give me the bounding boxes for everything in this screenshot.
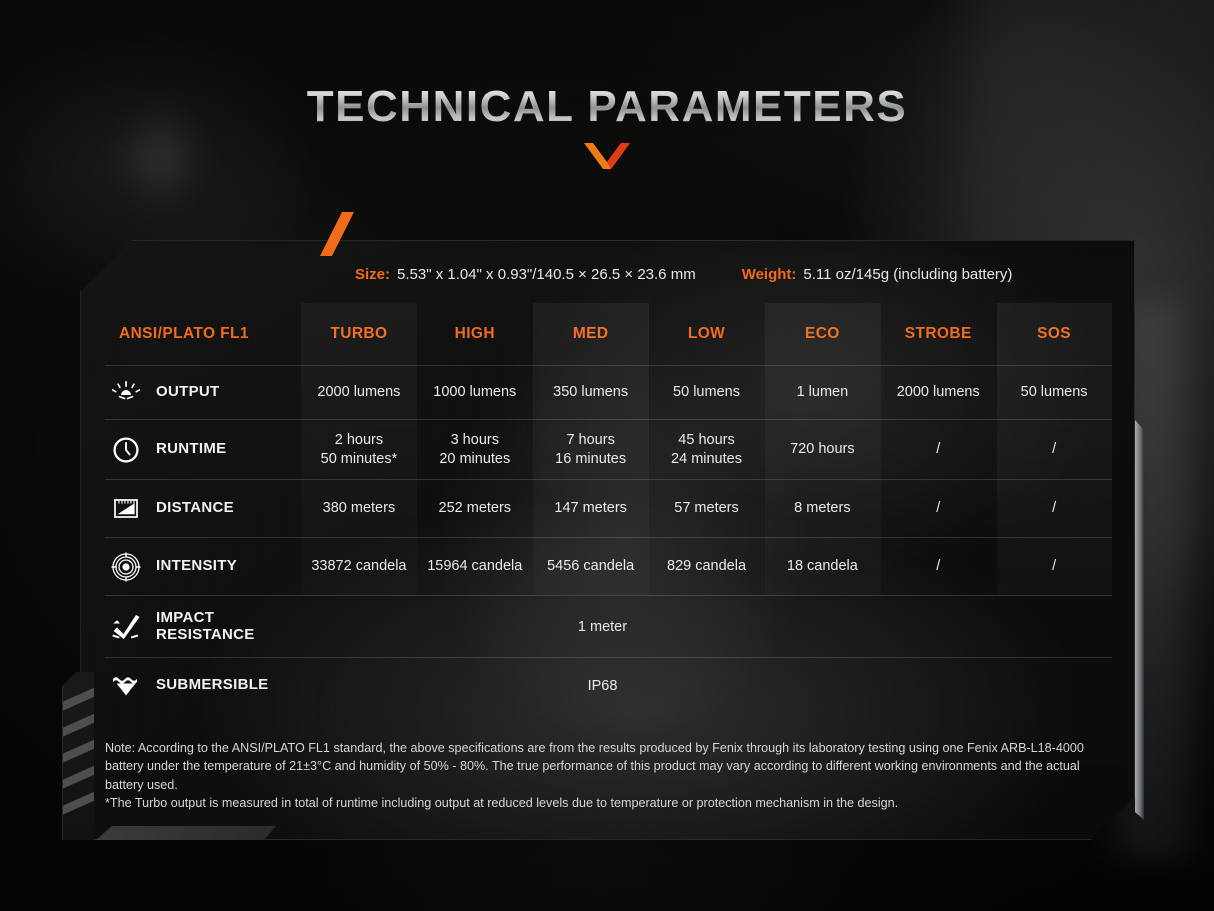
header-cell-high: HIGH — [417, 303, 533, 365]
spec-table: ANSI/PLATO FL1 TURBO HIGH MED LOW ECO ST… — [105, 303, 1112, 713]
cell-intensity-eco: 18 candela — [764, 538, 880, 595]
row-label-text-distance: DISTANCE — [156, 500, 234, 517]
cell-runtime-turbo: 2 hours 50 minutes* — [301, 420, 417, 479]
cell-submersible-value: IP68 — [588, 678, 618, 694]
impact-check-icon — [109, 613, 143, 641]
spec-panel: Size:5.53" x 1.04" x 0.93"/140.5 × 26.5 … — [80, 240, 1135, 840]
page-title: TECHNICAL PARAMETERS — [307, 82, 907, 132]
table-row-output: OUTPUT 2000 lumens 1000 lumens 350 lumen… — [105, 365, 1112, 419]
size-weight-bar: Size:5.53" x 1.04" x 0.93"/140.5 × 26.5 … — [81, 255, 1134, 293]
row-label-text-output: OUTPUT — [156, 384, 219, 401]
chevron-down-icon — [584, 142, 630, 170]
cell-runtime-eco: 720 hours — [764, 420, 880, 479]
note-line-2: *The Turbo output is measured in total o… — [105, 794, 1110, 812]
row-label-text-impact: IMPACT RESISTANCE — [156, 610, 255, 644]
table-row-impact-resistance: IMPACT RESISTANCE 1 meter — [105, 595, 1112, 657]
cell-runtime-strobe: / — [880, 420, 996, 479]
accent-slash-icon — [320, 212, 354, 256]
table-row-distance: DISTANCE 380 meters 252 meters 147 meter… — [105, 479, 1112, 537]
size-value: 5.53" x 1.04" x 0.93"/140.5 × 26.5 × 23.… — [397, 266, 696, 283]
header-cell-low: LOW — [649, 303, 765, 365]
cell-impact-value: 1 meter — [578, 619, 627, 635]
beam-distance-icon — [109, 497, 143, 521]
weight-value: 5.11 oz/145g (including battery) — [803, 266, 1012, 283]
row-label-text-submersible: SUBMERSIBLE — [156, 677, 268, 694]
row-label-intensity: INTENSITY — [105, 538, 301, 595]
note-line-1: Note: According to the ANSI/PLATO FL1 st… — [105, 739, 1110, 794]
cell-intensity-high: 15964 candela — [417, 538, 533, 595]
size-group: Size:5.53" x 1.04" x 0.93"/140.5 × 26.5 … — [355, 266, 696, 283]
table-header-row: ANSI/PLATO FL1 TURBO HIGH MED LOW ECO ST… — [105, 303, 1112, 365]
cell-output-eco: 1 lumen — [764, 366, 880, 419]
cell-runtime-sos: / — [996, 420, 1112, 479]
decoration-left-stripes — [62, 672, 94, 840]
decoration-right-bar — [1135, 420, 1144, 820]
cell-output-strobe: 2000 lumens — [880, 366, 996, 419]
header-cell-ansi: ANSI/PLATO FL1 — [105, 303, 301, 365]
row-label-text-intensity: INTENSITY — [156, 558, 237, 575]
header-cell-turbo: TURBO — [301, 303, 417, 365]
weight-group: Weight:5.11 oz/145g (including battery) — [742, 266, 1013, 283]
cell-runtime-low: 45 hours 24 minutes — [649, 420, 765, 479]
clock-icon — [109, 436, 143, 464]
cell-distance-med: 147 meters — [533, 480, 649, 537]
cell-intensity-strobe: / — [880, 538, 996, 595]
target-intensity-icon — [109, 552, 143, 582]
row-label-submersible: SUBMERSIBLE — [105, 658, 301, 713]
header-cell-eco: ECO — [764, 303, 880, 365]
cell-output-med: 350 lumens — [533, 366, 649, 419]
page-root: TECHNICAL PARAMETERS Size:5.53" x 1.04" … — [0, 0, 1214, 911]
table-row-intensity: INTENSITY 33872 candela 15964 candela 54… — [105, 537, 1112, 595]
header-cell-strobe: STROBE — [880, 303, 996, 365]
row-label-output: OUTPUT — [105, 366, 301, 419]
cell-runtime-med: 7 hours 16 minutes — [533, 420, 649, 479]
light-burst-icon — [109, 381, 143, 405]
cell-output-low: 50 lumens — [649, 366, 765, 419]
cell-distance-strobe: / — [880, 480, 996, 537]
cell-distance-low: 57 meters — [649, 480, 765, 537]
cell-distance-eco: 8 meters — [764, 480, 880, 537]
row-label-runtime: RUNTIME — [105, 420, 301, 479]
table-row-submersible: SUBMERSIBLE IP68 — [105, 657, 1112, 713]
row-label-distance: DISTANCE — [105, 480, 301, 537]
weight-label: Weight: — [742, 266, 797, 283]
title-block: TECHNICAL PARAMETERS — [0, 82, 1214, 170]
row-label-text-runtime: RUNTIME — [156, 441, 226, 458]
submersible-icon — [109, 674, 143, 698]
header-cell-med: MED — [533, 303, 649, 365]
cell-distance-sos: / — [996, 480, 1112, 537]
cell-runtime-high: 3 hours 20 minutes — [417, 420, 533, 479]
cell-submersible-value-wrap: IP68 — [301, 658, 1112, 713]
cell-distance-turbo: 380 meters — [301, 480, 417, 537]
cell-intensity-low: 829 candela — [649, 538, 765, 595]
cell-output-turbo: 2000 lumens — [301, 366, 417, 419]
header-cell-sos: SOS — [996, 303, 1112, 365]
table-row-runtime: RUNTIME 2 hours 50 minutes* 3 hours 20 m… — [105, 419, 1112, 479]
header-label-ansi: ANSI/PLATO FL1 — [119, 325, 249, 342]
cell-distance-high: 252 meters — [417, 480, 533, 537]
cell-intensity-turbo: 33872 candela — [301, 538, 417, 595]
note-block: Note: According to the ANSI/PLATO FL1 st… — [105, 739, 1110, 812]
cell-intensity-sos: / — [996, 538, 1112, 595]
cell-output-high: 1000 lumens — [417, 366, 533, 419]
size-label: Size: — [355, 266, 390, 283]
decoration-bottom-tab — [96, 826, 276, 840]
cell-intensity-med: 5456 candela — [533, 538, 649, 595]
row-label-impact: IMPACT RESISTANCE — [105, 596, 301, 657]
cell-impact-value-wrap: 1 meter — [301, 596, 1112, 657]
cell-output-sos: 50 lumens — [996, 366, 1112, 419]
